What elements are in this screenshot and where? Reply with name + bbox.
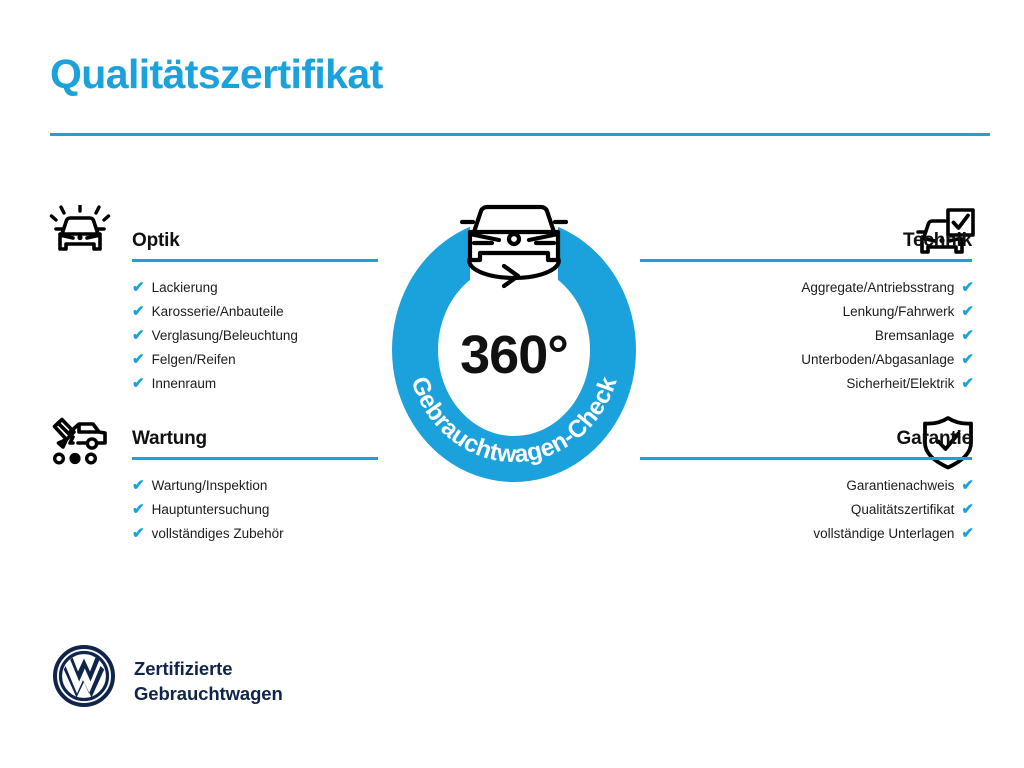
list-item-label: vollständige Unterlagen [813, 522, 954, 546]
list-item: Aggregate/Antriebsstrang ✔ [636, 276, 976, 300]
list-item: ✔ Lackierung [132, 276, 388, 300]
list-item: ✔ vollständiges Zubehör [132, 522, 388, 546]
checklist-garantie: Garantienachweis ✔ Qualitätszertifikat ✔… [636, 474, 976, 546]
list-item-label: Verglasung/Beleuchtung [152, 324, 298, 348]
check-icon: ✔ [961, 372, 974, 396]
list-item-label: Qualitätszertifikat [851, 498, 955, 522]
list-item-label: Bremsanlage [875, 324, 955, 348]
section-divider [132, 457, 378, 460]
checklist-technik: Aggregate/Antriebsstrang ✔ Lenkung/Fahrw… [636, 276, 976, 396]
list-item-label: Innenraum [152, 372, 217, 396]
list-item-label: Aggregate/Antriebsstrang [801, 276, 954, 300]
check-icon: ✔ [961, 498, 974, 522]
list-item-label: vollständiges Zubehör [152, 522, 284, 546]
section-title: Technik [903, 230, 972, 252]
check-icon: ✔ [961, 522, 974, 546]
vw-wordmark: Zertifizierte Gebrauchtwagen [134, 656, 283, 706]
check-icon: ✔ [132, 498, 145, 522]
list-item-label: Garantienachweis [846, 474, 954, 498]
list-item: ✔ Verglasung/Beleuchtung [132, 324, 388, 348]
check-icon: ✔ [132, 372, 145, 396]
section-divider [640, 259, 972, 262]
page-title: Qualitätszertifikat [50, 52, 383, 96]
check-icon: ✔ [132, 324, 145, 348]
section-title: Wartung [132, 428, 207, 450]
check-icon: ✔ [132, 276, 145, 300]
checklist-wartung: ✔ Wartung/Inspektion ✔ Hauptuntersuchung… [132, 474, 388, 546]
list-item: ✔ Wartung/Inspektion [132, 474, 388, 498]
check-icon: ✔ [961, 474, 974, 498]
section-divider [132, 259, 378, 262]
section-optik: Optik ✔ Lackierung ✔ Karosserie/Anbautei… [48, 200, 388, 396]
check-icon: ✔ [961, 348, 974, 372]
list-item-label: Wartung/Inspektion [152, 474, 268, 498]
section-title: Optik [132, 230, 180, 252]
section-wartung: Wartung ✔ Wartung/Inspektion ✔ Hauptunte… [48, 398, 388, 546]
section-header-garantie: Garantie [636, 398, 976, 474]
section-title: Garantie [897, 428, 973, 450]
list-item-label: Felgen/Reifen [152, 348, 236, 372]
list-item-label: Lackierung [152, 276, 218, 300]
list-item: Qualitätszertifikat ✔ [636, 498, 976, 522]
list-item-label: Karosserie/Anbauteile [152, 300, 284, 324]
list-item: ✔ Karosserie/Anbauteile [132, 300, 388, 324]
vw-wordmark-line2: Gebrauchtwagen [134, 681, 283, 706]
section-header-optik: Optik [48, 200, 388, 276]
list-item-label: Sicherheit/Elektrik [846, 372, 954, 396]
list-item-label: Unterboden/Abgasanlage [801, 348, 954, 372]
section-technik: Technik Aggregate/Antriebsstrang ✔ Lenku… [636, 200, 976, 396]
check-icon: ✔ [132, 522, 145, 546]
list-item: vollständige Unterlagen ✔ [636, 522, 976, 546]
section-header-technik: Technik [636, 200, 976, 276]
list-item: Garantienachweis ✔ [636, 474, 976, 498]
check-icon: ✔ [961, 300, 974, 324]
list-item: ✔ Innenraum [132, 372, 388, 396]
list-item: Bremsanlage ✔ [636, 324, 976, 348]
check-icon: ✔ [132, 474, 145, 498]
check-icon: ✔ [132, 300, 145, 324]
section-divider [640, 457, 972, 460]
check-icon: ✔ [961, 324, 974, 348]
vw-certified-logo: Zertifizierte Gebrauchtwagen [52, 644, 382, 730]
list-item: Sicherheit/Elektrik ✔ [636, 372, 976, 396]
check-icon: ✔ [132, 348, 145, 372]
list-item-label: Lenkung/Fahrwerk [843, 300, 955, 324]
title-divider [50, 133, 990, 136]
vw-wordmark-line1: Zertifizierte [134, 656, 283, 681]
check-icon: ✔ [961, 276, 974, 300]
badge-value: 360° [374, 324, 654, 386]
certificate-page: Qualitätszertifikat Optik [0, 0, 1024, 768]
section-header-wartung: Wartung [48, 398, 388, 474]
list-item: ✔ Hauptuntersuchung [132, 498, 388, 522]
list-item: Lenkung/Fahrwerk ✔ [636, 300, 976, 324]
list-item: ✔ Felgen/Reifen [132, 348, 388, 372]
list-item-label: Hauptuntersuchung [152, 498, 270, 522]
vw-logo-icon [52, 644, 116, 708]
360-check-badge: Gebrauchtwagen-Check [374, 192, 654, 492]
section-garantie: Garantie Garantienachweis ✔ Qualitätszer… [636, 398, 976, 546]
list-item: Unterboden/Abgasanlage ✔ [636, 348, 976, 372]
checklist-optik: ✔ Lackierung ✔ Karosserie/Anbauteile ✔ V… [132, 276, 388, 396]
